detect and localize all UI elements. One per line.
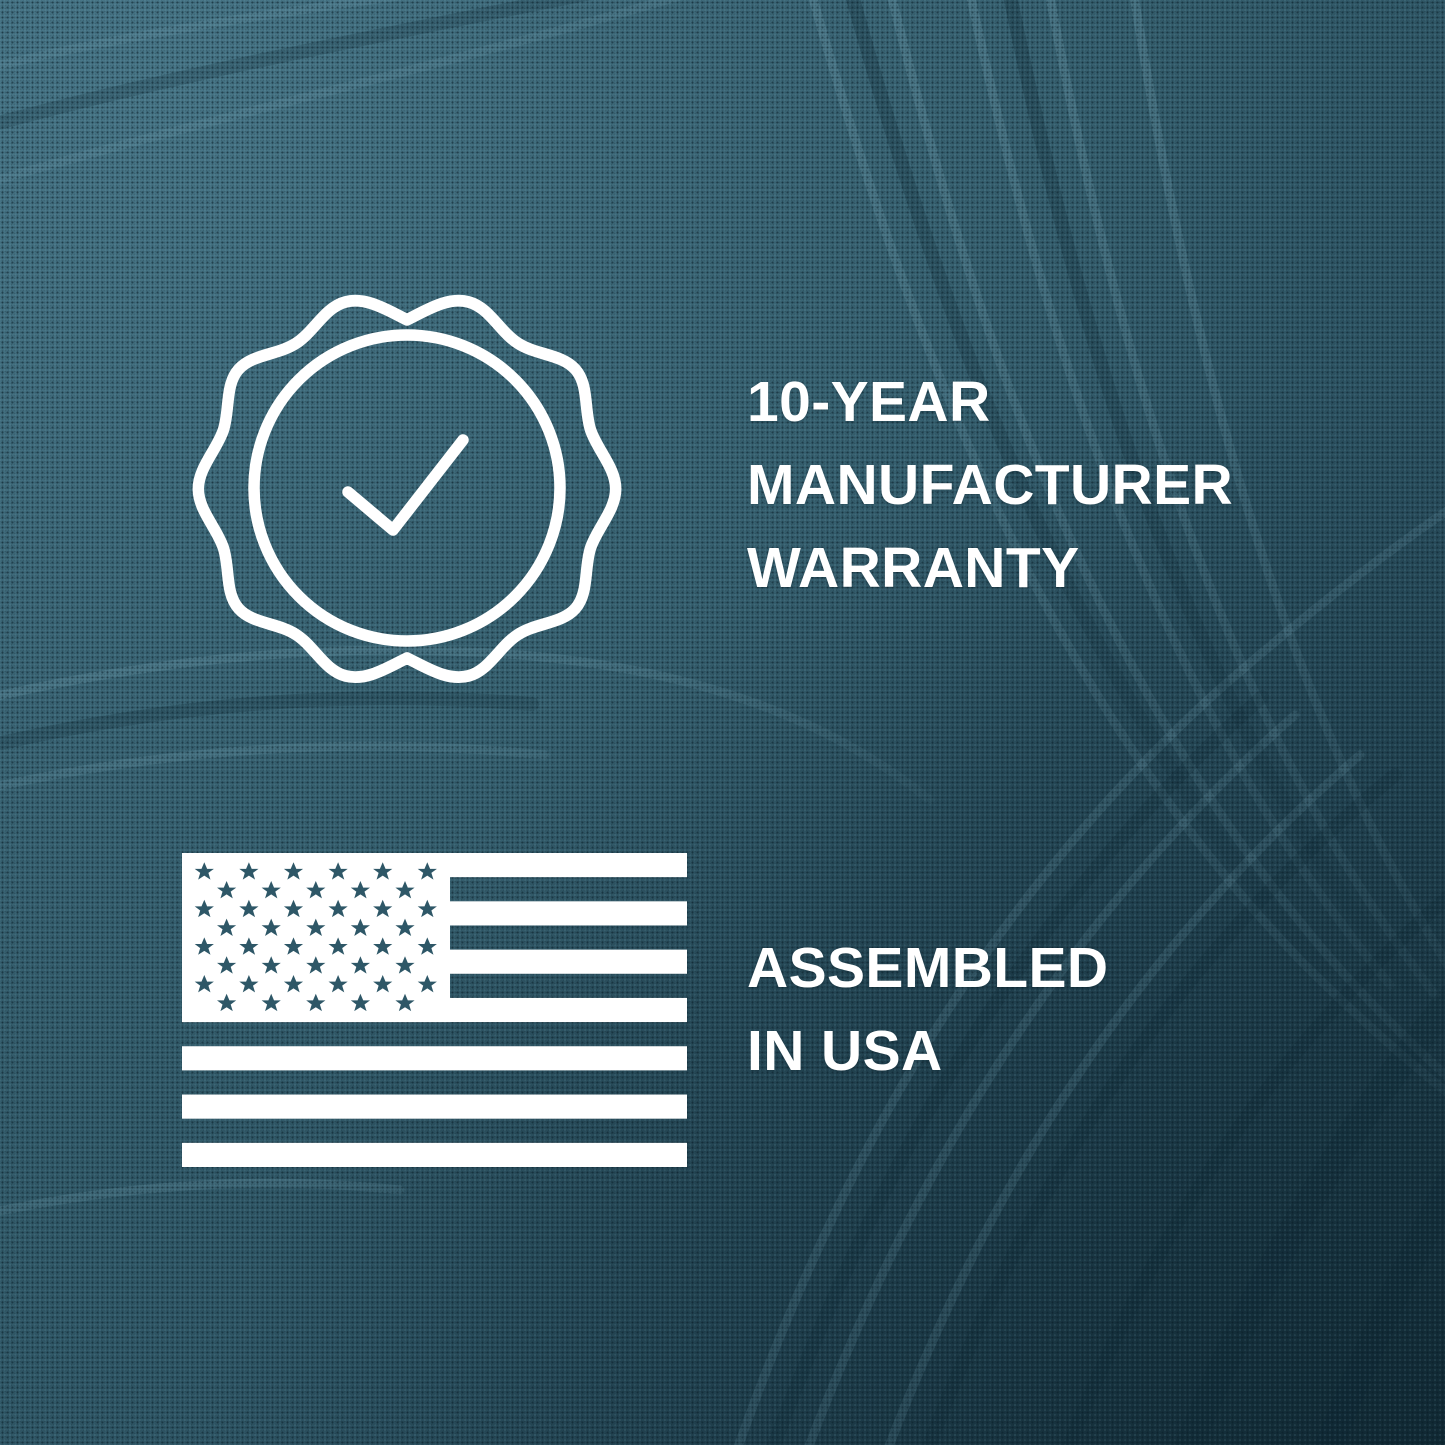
warranty-label: 10-YEAR MANUFACTURER WARRANTY [747, 361, 1340, 610]
check-badge-icon [182, 262, 632, 709]
usa-text-container: ASSEMBLED IN USA [670, 927, 1340, 1093]
feature-row-assembled-in-usa: ASSEMBLED IN USA [170, 830, 1340, 1190]
assembled-in-usa-label: ASSEMBLED IN USA [747, 927, 1340, 1093]
feature-banner: 10-YEAR MANUFACTURER WARRANTY [0, 0, 1445, 1445]
feature-row-warranty: 10-YEAR MANUFACTURER WARRANTY [170, 240, 1340, 730]
usa-flag-icon [182, 853, 687, 1167]
usa-icon-container [170, 853, 670, 1167]
warranty-icon-container [170, 262, 670, 709]
warranty-text-container: 10-YEAR MANUFACTURER WARRANTY [670, 361, 1340, 610]
